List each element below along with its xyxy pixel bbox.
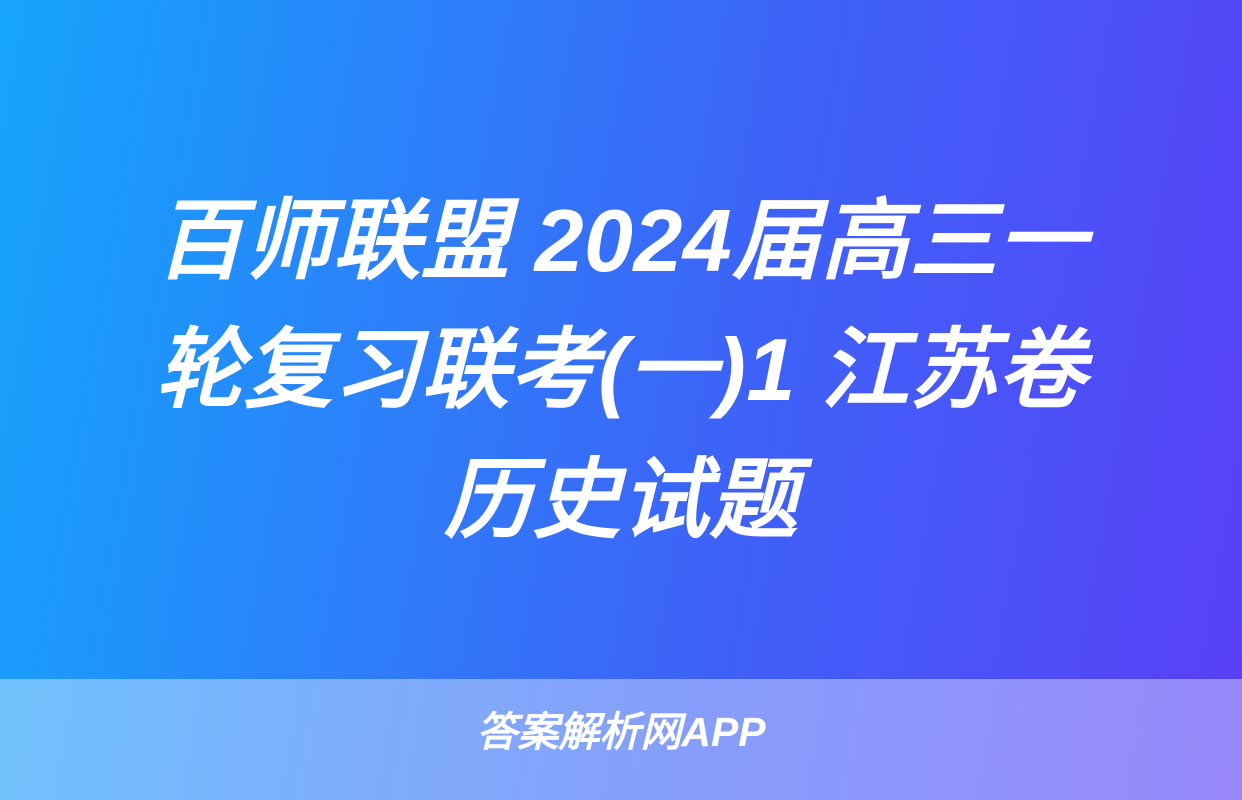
- title-line-3: 历史试题: [56, 435, 1186, 564]
- title-line-1: 百师联盟 2024届高三一: [56, 176, 1186, 305]
- title-line-2: 轮复习联考(一)1 江苏卷: [56, 305, 1186, 434]
- watermark: 答案解析网APP: [0, 712, 1242, 753]
- watermark-label: 答案解析网APP: [476, 712, 765, 753]
- page-title: 百师联盟 2024届高三一 轮复习联考(一)1 江苏卷 历史试题: [0, 176, 1242, 564]
- exam-title-card: 百师联盟 2024届高三一 轮复习联考(一)1 江苏卷 历史试题 答案解析网AP…: [0, 0, 1242, 800]
